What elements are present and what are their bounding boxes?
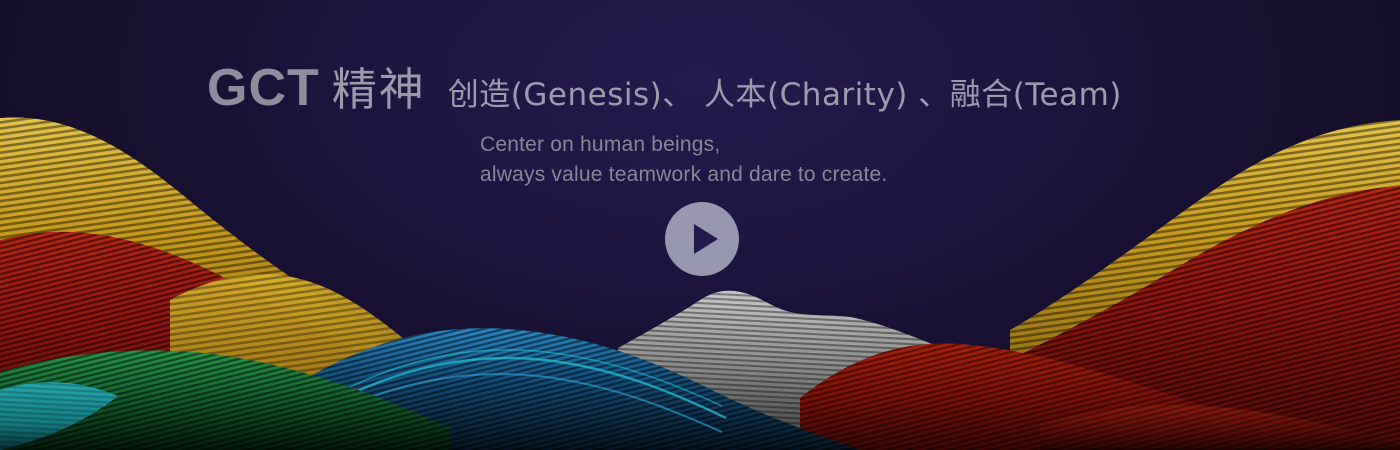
subtitle-block: Center on human beings, always value tea… (480, 130, 1207, 190)
play-button[interactable] (665, 202, 739, 276)
headline: GCT 精神 创造(Genesis)、 人本(Charity) 、融合(Team… (207, 62, 1207, 114)
headline-tagline: 创造(Genesis)、 人本(Charity) 、融合(Team) (448, 80, 1122, 111)
banner-copy: GCT 精神 创造(Genesis)、 人本(Charity) 、融合(Team… (207, 62, 1207, 190)
hero-banner: GCT 精神 创造(Genesis)、 人本(Charity) 、融合(Team… (0, 0, 1400, 450)
play-icon (694, 224, 718, 254)
brand-logo-cn-text: 精神 (332, 67, 426, 112)
brand-logo-text: GCT (207, 62, 320, 114)
subtitle-line-1: Center on human beings, (480, 130, 1207, 160)
subtitle-line-2: always value teamwork and dare to create… (480, 160, 1207, 190)
